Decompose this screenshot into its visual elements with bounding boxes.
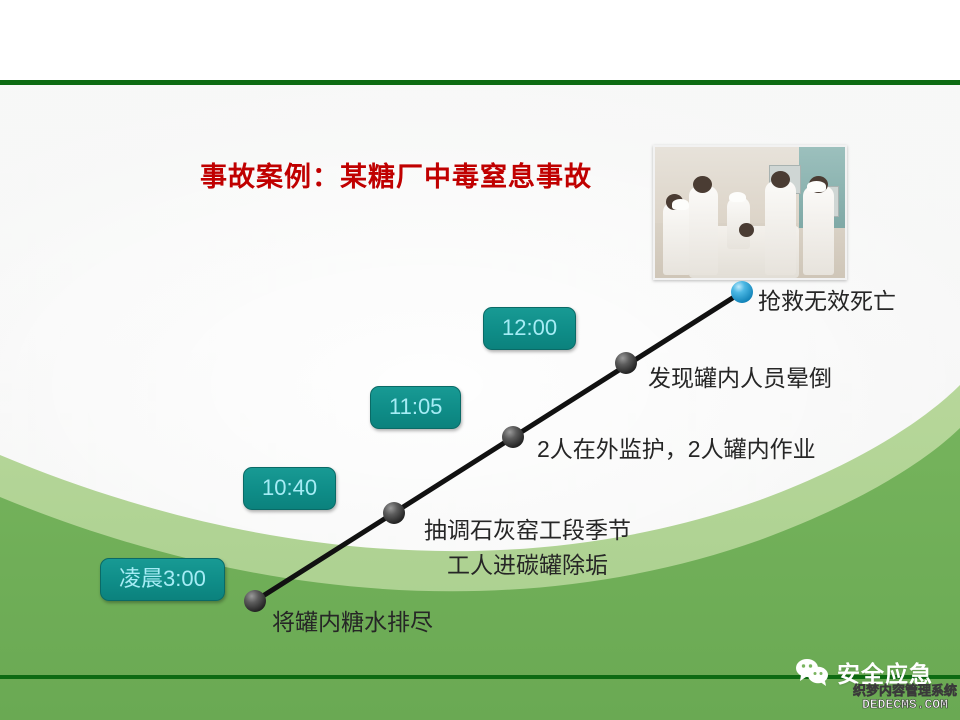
event-label-5: 抢救无效死亡 bbox=[758, 285, 896, 318]
slide-root: 事故案例：某糖厂中毒窒息事故 bbox=[0, 0, 960, 720]
site-watermark: 织梦内容管理系统 DEDECMS.COM bbox=[846, 684, 960, 711]
timeline-diagram bbox=[0, 0, 960, 720]
timeline-node-4 bbox=[615, 352, 637, 374]
timeline-node-1 bbox=[244, 590, 266, 612]
time-chip-1[interactable]: 凌晨3:00 bbox=[100, 558, 225, 601]
event-label-2-line2: 工人进碳罐除垢 bbox=[424, 548, 631, 583]
wechat-icon bbox=[795, 658, 829, 686]
event-label-2: 抽调石灰窑工段季节 工人进碳罐除垢 bbox=[424, 513, 631, 583]
event-label-4: 发现罐内人员晕倒 bbox=[648, 362, 832, 395]
time-chip-4[interactable]: 12:00 bbox=[483, 307, 576, 350]
watermark-line-1: 织梦内容管理系统 bbox=[846, 684, 960, 698]
event-label-1: 将罐内糖水排尽 bbox=[272, 606, 433, 639]
event-label-2-line1: 抽调石灰窑工段季节 bbox=[424, 517, 631, 543]
watermark-line-2: DEDECMS.COM bbox=[846, 698, 960, 712]
event-label-3: 2人在外监护，2人罐内作业 bbox=[537, 433, 816, 466]
time-chip-3[interactable]: 11:05 bbox=[370, 386, 461, 429]
timeline-node-2 bbox=[383, 502, 405, 524]
timeline-node-3 bbox=[502, 426, 524, 448]
timeline-node-5 bbox=[731, 281, 753, 303]
time-chip-2[interactable]: 10:40 bbox=[243, 467, 336, 510]
